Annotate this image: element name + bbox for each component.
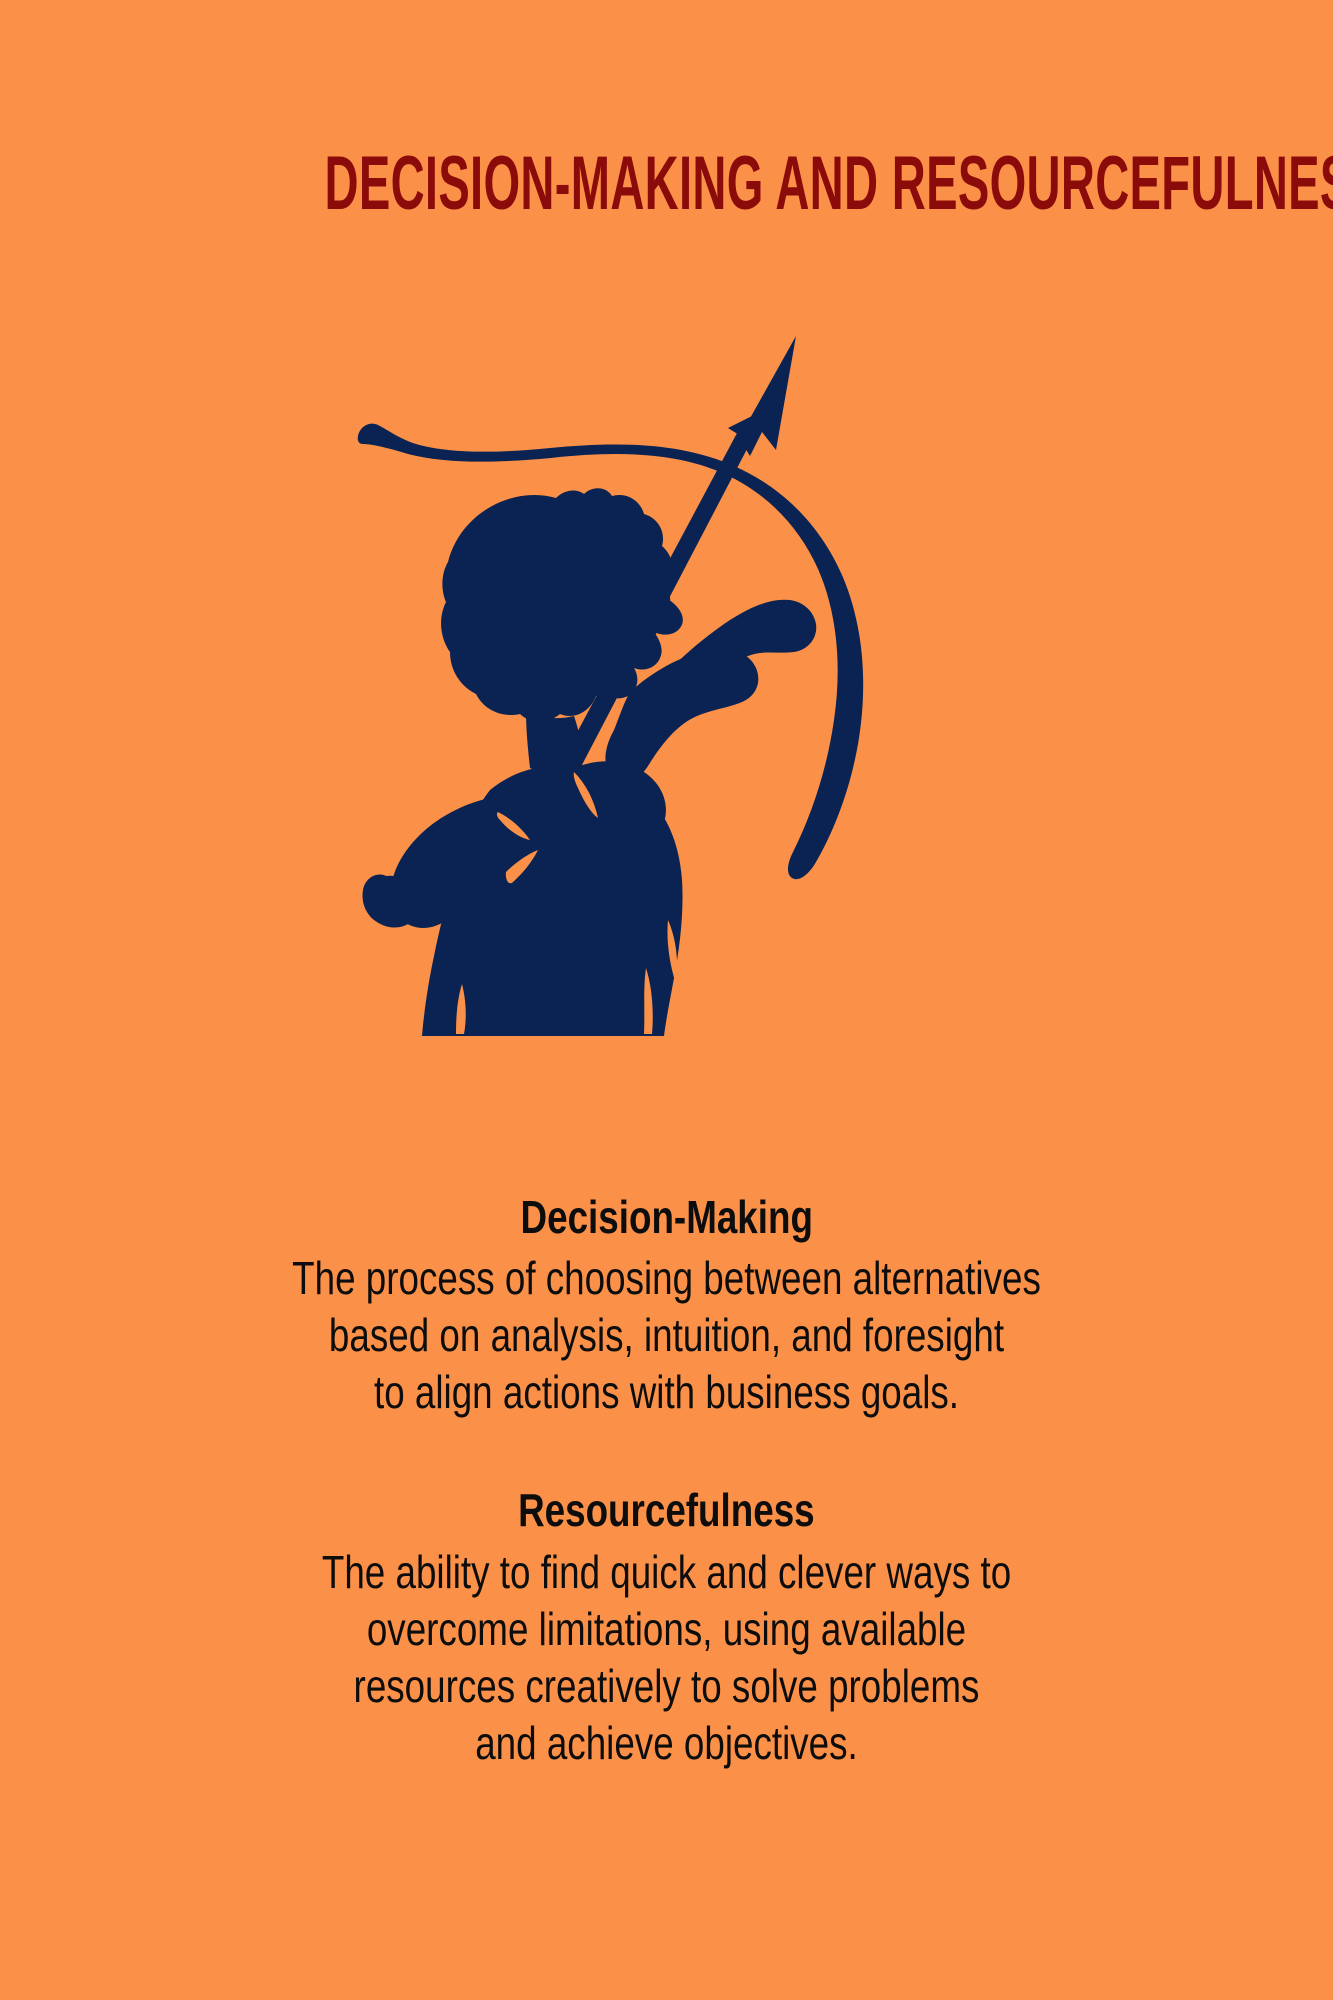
title-block: Decision-Making and Resourcefulness: [0, 98, 1333, 270]
archer-illustration: [330, 320, 1010, 1040]
section-heading-decision-making: Decision-Making: [520, 1190, 812, 1244]
section-heading-resourcefulness: Resourcefulness: [518, 1483, 815, 1537]
body-line: The process of choosing between alternat…: [133, 1250, 1199, 1307]
body-line: based on analysis, intuition, and foresi…: [133, 1307, 1199, 1364]
body-line: resources creatively to solve problems: [133, 1658, 1199, 1715]
body-line: The ability to find quick and clever way…: [133, 1544, 1199, 1601]
body-line: and achieve objectives.: [133, 1715, 1199, 1772]
section-body-resourcefulness: The ability to find quick and clever way…: [0, 1544, 1333, 1772]
section-resourcefulness: Resourcefulness The ability to find quic…: [0, 1483, 1333, 1771]
section-decision-making: Decision-Making The process of choosing …: [0, 1190, 1333, 1421]
body-line: to align actions with business goals.: [133, 1364, 1199, 1421]
poster-canvas: Decision-Making and Resourcefulness: [0, 0, 1333, 2000]
body-block: Decision-Making The process of choosing …: [0, 1190, 1333, 1772]
section-body-decision-making: The process of choosing between alternat…: [0, 1250, 1333, 1421]
archer-silhouette-icon: [330, 320, 1010, 1040]
body-line: overcome limitations, using available: [133, 1601, 1199, 1658]
page-title: Decision-Making and Resourcefulness: [324, 149, 1333, 219]
